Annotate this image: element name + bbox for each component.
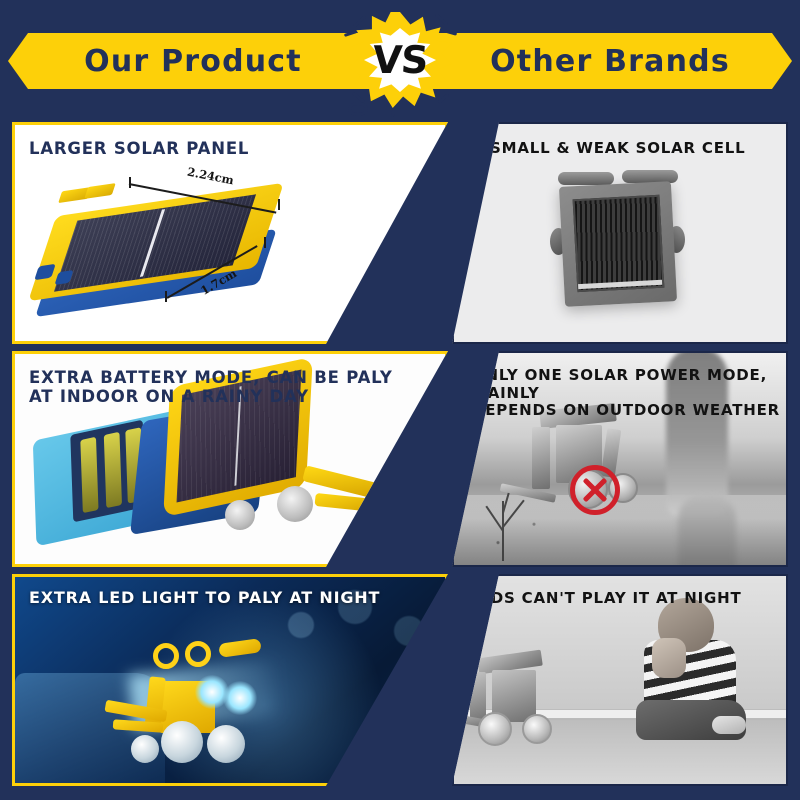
panel-label-small-weak-solar-cell: SMALL & WEAK SOLAR CELL [490,140,746,158]
panel-label-extra-battery-mode: EXTRA BATTERY MODE, CAN BE PALY AT INDOO… [29,368,393,407]
battery-cell [80,437,98,513]
robot-wheel [161,721,203,763]
panel-other-no-night: KIDS CAN'T PLAY IT AT NIGHT [452,574,788,786]
child-hands [652,638,686,678]
vs-label: VS [338,8,461,112]
panel-our-led-night: EXTRA LED LIGHT TO PALY AT NIGHT [12,574,448,786]
robot-eye [153,643,179,669]
panel-label-extra-led-light: EXTRA LED LIGHT TO PALY AT NIGHT [29,589,380,608]
child-sock [712,716,746,734]
panel-our-solar-panel: LARGER SOLAR PANEL 2.24cm 1.7cm [12,122,448,344]
panel-other-solar-only: ONLY ONE SOLAR POWER MODE, MAINLY DEPEND… [452,351,788,567]
product-led-robot-image [119,651,279,769]
vs-starburst-badge: VS [342,8,458,112]
cell-body [559,181,677,307]
other-brands-title: Other Brands [460,36,760,86]
robot-wheel [522,714,552,744]
cell-face [573,195,665,292]
cell-rod [622,170,678,183]
panel-label-larger-solar-panel: LARGER SOLAR PANEL [29,139,249,158]
comparison-infographic: Our Product Other Brands VS LARGER SOLAR… [0,0,800,800]
robot-arm [314,493,375,512]
panel-label-kids-cant-play-night: KIDS CAN'T PLAY IT AT NIGHT [472,590,741,608]
battery-cell [104,432,122,508]
robot-antenna [218,638,262,658]
robot-wheel [478,712,512,746]
cell-rod [558,172,614,185]
forbidden-x-icon [570,465,620,515]
led-glow [223,681,257,715]
robot-arm [302,465,378,498]
robot-wheel [207,725,245,763]
robot-wheel [277,486,313,522]
sad-child-photo [630,596,760,736]
competitor-robot-image [460,654,580,746]
robot-wheel [225,500,255,530]
panel-other-solar-cell: SMALL & WEAK SOLAR CELL [452,122,788,344]
robot-wheel [131,735,159,763]
panel-our-battery-mode: EXTRA BATTERY MODE, CAN BE PALY AT INDOO… [12,351,448,567]
dimension-cap [264,237,266,248]
robot-eye [185,641,211,667]
header-banner: Our Product Other Brands VS [0,0,800,118]
robot-strut [532,427,550,489]
person-reflection [678,495,736,567]
dimension-cap [165,291,167,302]
dimension-label-width: 2.24cm [186,165,235,188]
module-tab [84,183,116,199]
panel-label-only-one-solar-mode: ONLY ONE SOLAR POWER MODE, MAINLY DEPEND… [472,367,786,420]
robot-claw-arm [113,719,164,732]
dimension-cap [278,199,280,210]
our-product-title: Our Product [58,36,328,86]
